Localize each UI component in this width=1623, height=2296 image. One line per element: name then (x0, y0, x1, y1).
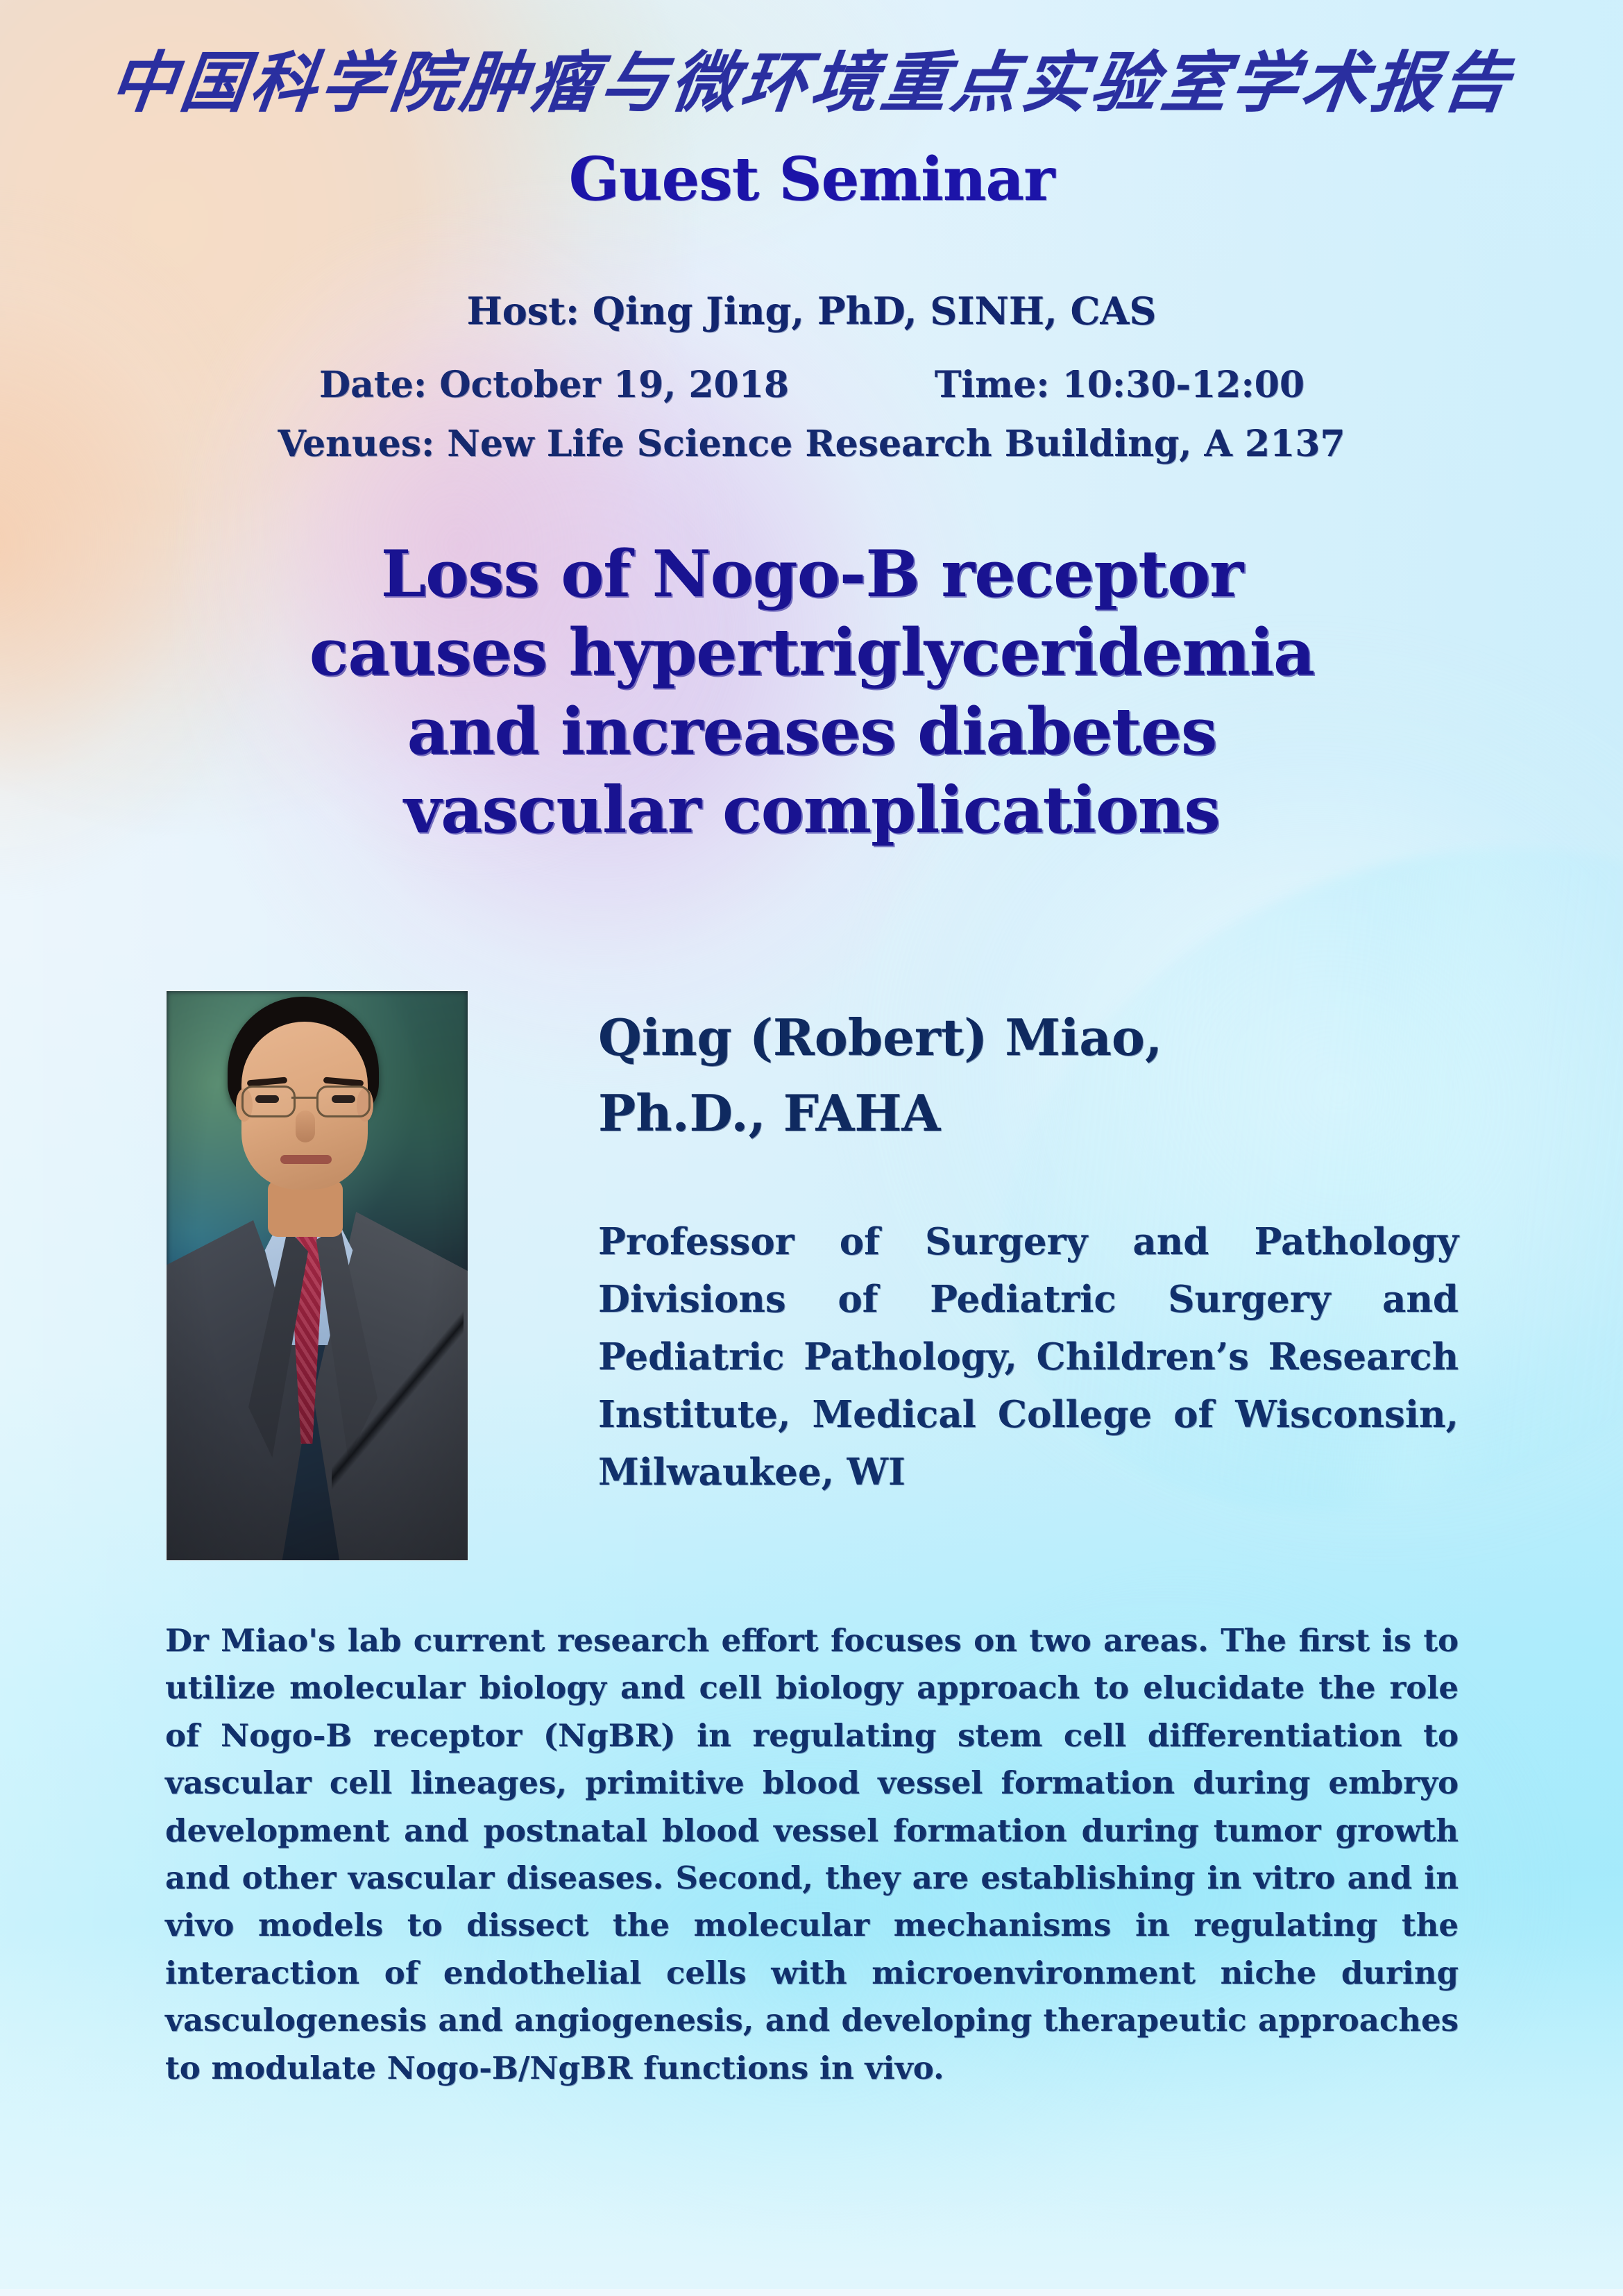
speaker-name-line-1: Qing (Robert) Miao, (598, 999, 1459, 1075)
venue-line: Venues: New Life Science Research Buildi… (0, 426, 1623, 462)
talk-title-line-3: and increases diabetes (139, 692, 1485, 770)
date-label: Date: October 19, 2018 (319, 367, 789, 403)
event-type-heading: Guest Seminar (0, 150, 1623, 210)
talk-title-line-2: causes hypertriglyceridemia (139, 613, 1485, 691)
host-line: Host: Qing Jing, PhD, SINH, CAS (0, 292, 1623, 330)
seminar-poster: 中国科学院肿瘤与微环境重点实验室学术报告 Guest Seminar Host:… (0, 0, 1623, 2296)
talk-title-line-1: Loss of Nogo-B receptor (139, 534, 1485, 613)
speaker-name-line-2: Ph.D., FAHA (598, 1075, 1459, 1151)
date-time-row: Date: October 19, 2018 Time: 10:30-12:00 (319, 367, 1305, 403)
talk-title-line-4: vascular complications (139, 770, 1485, 849)
speaker-photo (167, 991, 468, 1560)
organization-title-chinese: 中国科学院肿瘤与微环境重点实验室学术报告 (0, 50, 1623, 116)
abstract-paragraph: Dr Miao's lab current research effort fo… (165, 1617, 1459, 2092)
photo-vignette (167, 991, 468, 1560)
talk-title: Loss of Nogo-B receptor causes hypertrig… (139, 534, 1485, 850)
speaker-affiliation: Professor of Surgery and Pathology Divis… (598, 1213, 1459, 1501)
speaker-name: Qing (Robert) Miao, Ph.D., FAHA (598, 999, 1459, 1151)
time-label: Time: 10:30-12:00 (935, 367, 1305, 403)
